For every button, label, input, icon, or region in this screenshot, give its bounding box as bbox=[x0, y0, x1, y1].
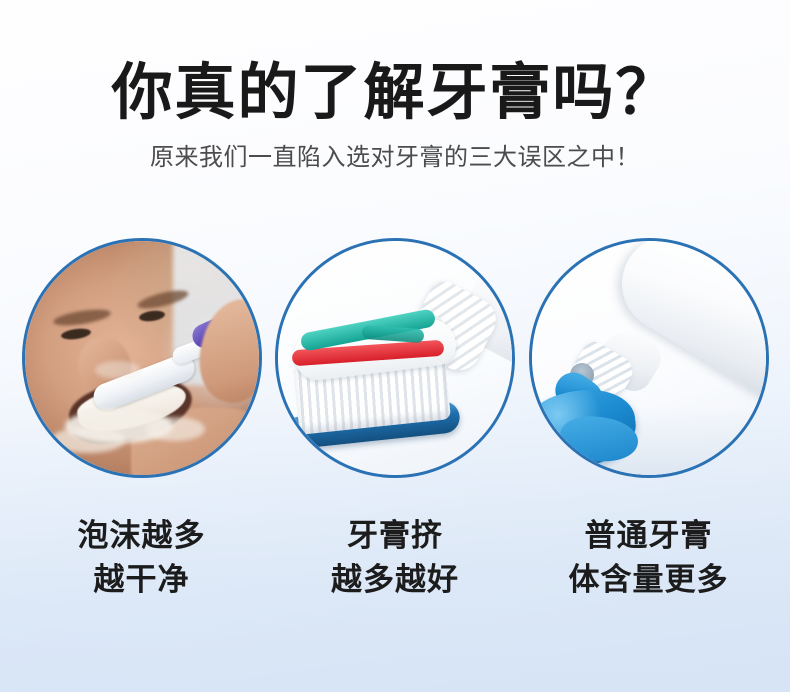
poster-header: 你真的了解牙膏吗？ 原来我们一直陷入选对牙膏的三大误区之中！ bbox=[0, 0, 790, 173]
foam-patch bbox=[95, 361, 141, 379]
myth-caption-2: 牙膏挤 越多越好 bbox=[331, 514, 459, 602]
photo-circle-1 bbox=[22, 238, 262, 478]
photo-circle-3 bbox=[529, 238, 769, 478]
man-brushing-teeth-with-foam-photo bbox=[25, 241, 259, 475]
myth-caption-1: 泡沫越多 越干净 bbox=[78, 514, 206, 602]
page-title: 你真的了解牙膏吗？ bbox=[0, 0, 790, 126]
white-tube-squeezing-blue-gel-photo bbox=[532, 241, 766, 475]
eye-right bbox=[138, 309, 165, 323]
caption-line-1: 牙膏挤 bbox=[331, 514, 459, 558]
caption-line-2: 越多越好 bbox=[331, 558, 459, 602]
caption-line-2: 体含量更多 bbox=[569, 558, 729, 602]
caption-line-1: 普通牙膏 bbox=[569, 514, 729, 558]
myth-card-2: 牙膏挤 越多越好 bbox=[274, 238, 517, 602]
eyebrow-left bbox=[52, 307, 111, 329]
foam-patch bbox=[51, 427, 125, 453]
caption-line-1: 泡沫越多 bbox=[78, 514, 206, 558]
foam-patch bbox=[145, 417, 205, 441]
striped-toothpaste-on-toothbrush-photo bbox=[278, 241, 512, 475]
myth-caption-3: 普通牙膏 体含量更多 bbox=[569, 514, 729, 602]
myth-card-3: 普通牙膏 体含量更多 bbox=[527, 238, 770, 602]
eye-left bbox=[60, 327, 91, 341]
photo-circle-2 bbox=[275, 238, 515, 478]
myth-cards-row: 泡沫越多 越干净 牙膏挤 越多 bbox=[0, 238, 790, 602]
page-subtitle: 原来我们一直陷入选对牙膏的三大误区之中！ bbox=[0, 126, 790, 173]
caption-line-2: 越干净 bbox=[78, 558, 206, 602]
toothpaste-myths-poster: 你真的了解牙膏吗？ 原来我们一直陷入选对牙膏的三大误区之中！ bbox=[0, 0, 790, 692]
myth-card-1: 泡沫越多 越干净 bbox=[20, 238, 263, 602]
